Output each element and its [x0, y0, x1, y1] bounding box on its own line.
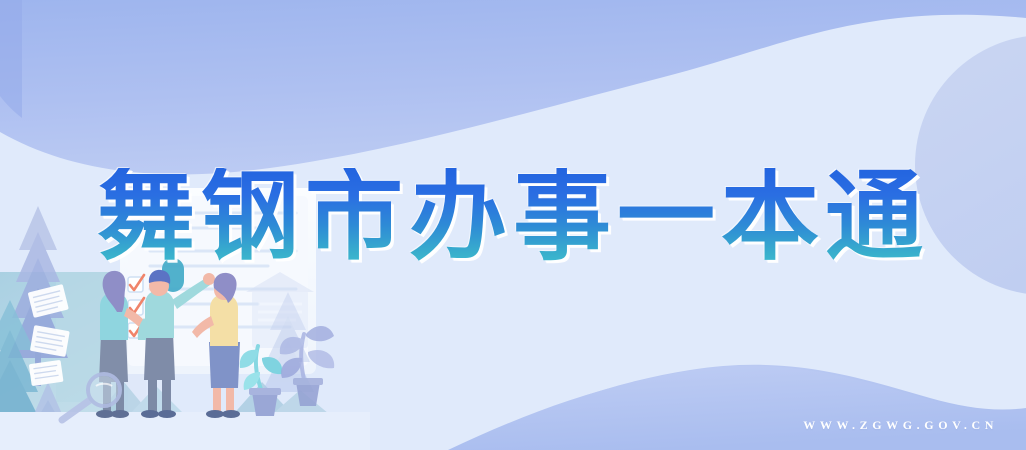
foreground-wave-path [448, 366, 1026, 450]
site-url-text: WWW.ZGWG.GOV.CN [803, 418, 998, 433]
foreground-wave [0, 0, 1026, 450]
banner-root: 舞钢市办事一本通 WWW.ZGWG.GOV.CN [0, 0, 1026, 450]
